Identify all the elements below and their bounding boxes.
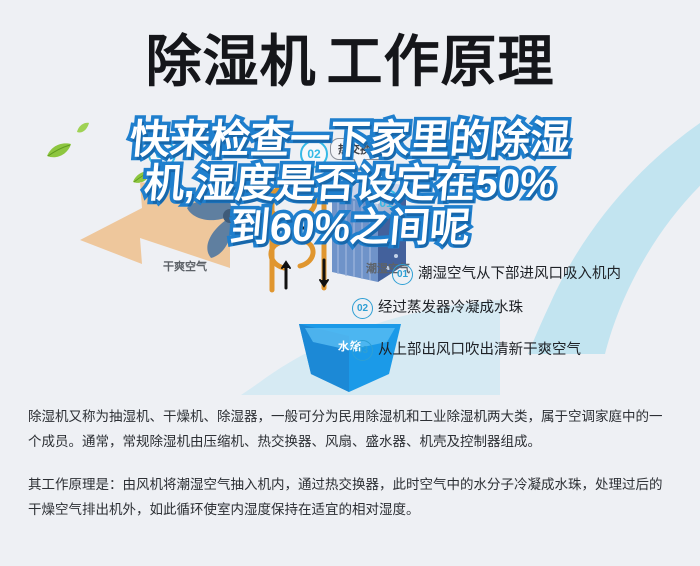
body-paragraph-1: 除湿机又称为抽湿机、干燥机、除湿器，一般可分为民用除湿机和工业除湿机两大类，属于… [0, 404, 700, 454]
marker-03: 03 [148, 140, 176, 168]
title-part1: 除湿机 [146, 30, 317, 93]
annotation-text-01: 潮湿空气从下部进风口吸入机内 [418, 266, 621, 282]
annotation-text-02: 经过蒸发器冷凝成水珠 [378, 300, 523, 316]
marker-02: 02 [300, 140, 328, 168]
annotation-number-03: 03 [352, 340, 373, 361]
title-text: 除湿机工作原理 [146, 34, 555, 90]
page-root: 除湿机工作原理 [0, 0, 700, 566]
annotation-02: 02经过蒸发器冷凝成水珠 [352, 296, 523, 319]
annotation-number-01: 01 [392, 264, 413, 285]
dehumidifier-diagram: 水箱 01 02 03 热交换器 干爽空气 潮湿空气 01潮湿空气从下部进风口吸… [0, 110, 700, 395]
annotation-text-03: 从上部出风口吹出清新干爽空气 [378, 342, 581, 358]
heat-exchanger-callout: 热交换器 [330, 138, 390, 160]
dry-air-label: 干爽空气 [163, 258, 207, 274]
leaf-icon [46, 142, 72, 160]
page-title: 除湿机工作原理 [0, 22, 700, 102]
annotation-03: 03从上部出风口吹出清新干爽空气 [352, 338, 581, 361]
marker-01: 01 [372, 189, 400, 217]
title-part2: 工作原理 [327, 30, 555, 93]
article-body: 除湿机又称为抽湿机、干燥机、除湿器，一般可分为民用除湿机和工业除湿机两大类，属于… [0, 404, 700, 522]
leaf-icon [76, 122, 90, 134]
annotation-01: 01潮湿空气从下部进风口吸入机内 [392, 262, 621, 285]
annotation-number-02: 02 [352, 298, 373, 319]
body-paragraph-2: 其工作原理是：由风机将潮湿空气抽入机内，通过热交换器，此时空气中的水分子冷凝成水… [0, 472, 700, 522]
